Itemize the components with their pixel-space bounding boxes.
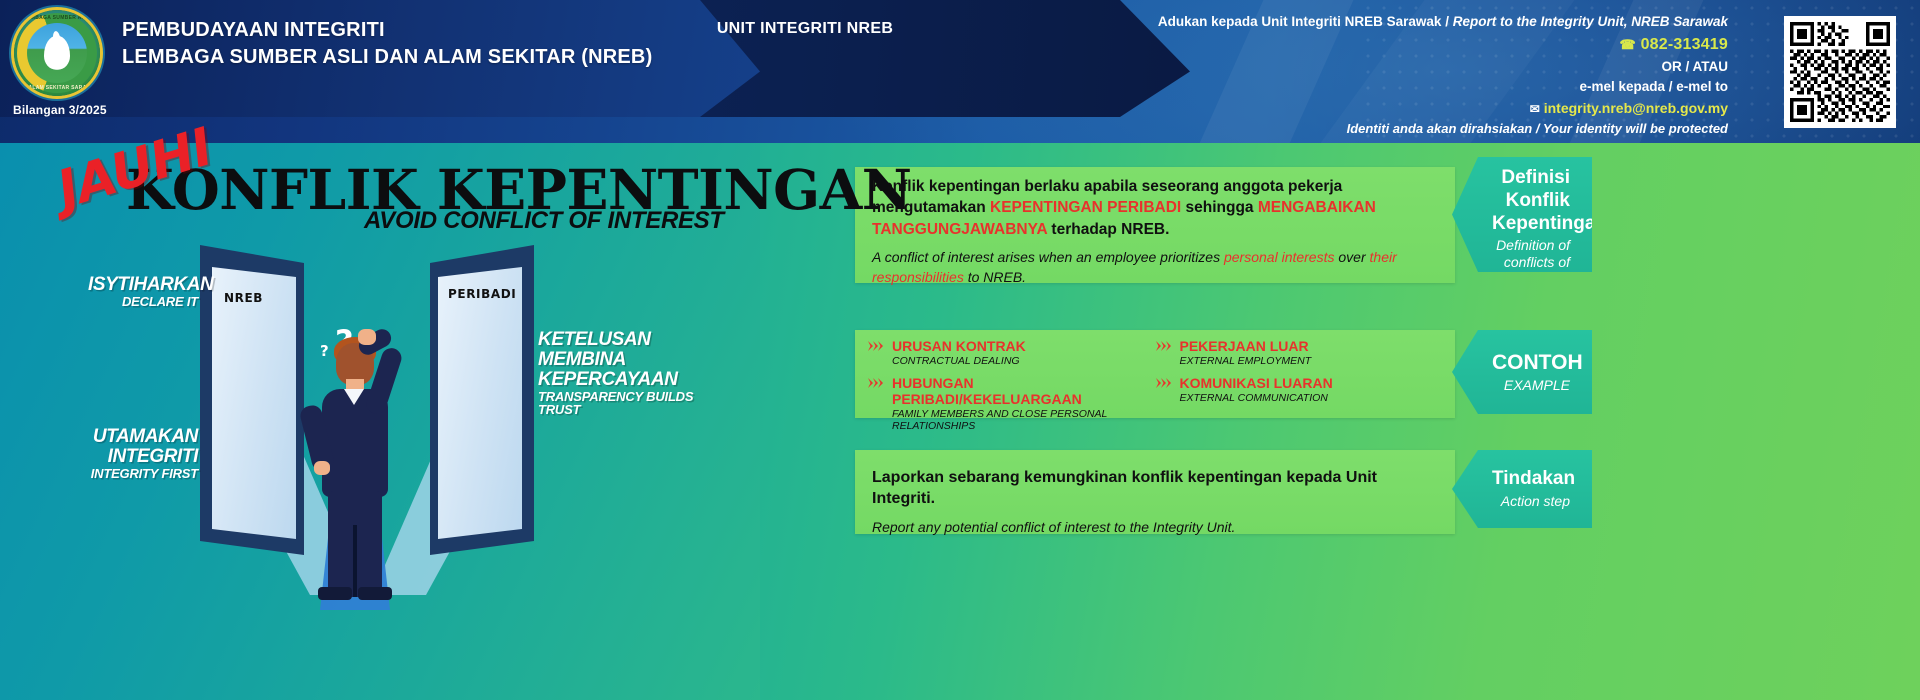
definition-bm-part2: sehingga — [1181, 199, 1258, 216]
man-leg-split — [353, 525, 357, 597]
contact-phone: 082-313419 — [1641, 36, 1728, 53]
list-item: URUSAN KONTRAK CONTRACTUAL DEALING — [868, 338, 1156, 368]
example-bm-1: URUSAN KONTRAK — [892, 338, 1026, 354]
list-item: HUBUNGAN PERIBADI/KEKELUARGAAN FAMILY ME… — [868, 375, 1156, 433]
example-en-4: EXTERNAL COMMUNICATION — [1180, 392, 1333, 405]
poster-root: LEMBAGA SUMBER ASLI DAN ALAM SEKITAR SAR… — [0, 0, 1920, 700]
label-declare-it: ISYTIHARKAN DECLARE IT — [88, 275, 198, 309]
door-peribadi: PERIBADI — [430, 245, 534, 555]
qr-code-icon[interactable] — [1784, 16, 1896, 128]
label-transparency-en: TRANSPARENCY BUILDS TRUST — [538, 390, 738, 417]
contact-privacy-note: Identiti anda akan dirahsiakan / Your id… — [958, 119, 1728, 139]
arrows-icon — [1156, 341, 1174, 351]
man-left-hand — [314, 461, 330, 475]
logo-hand-icon — [44, 36, 70, 70]
label-transparency: KETELUSAN MEMBINA KEPERCAYAAN TRANSPAREN… — [538, 330, 738, 417]
man-figure-icon — [300, 285, 410, 605]
definition-en-part1: A conflict of interest arises when an em… — [872, 249, 1224, 265]
door-peribadi-label: PERIBADI — [448, 287, 516, 301]
list-item: PEKERJAAN LUAR EXTERNAL EMPLOYMENT — [1156, 338, 1444, 368]
nreb-logo: LEMBAGA SUMBER ASLI DAN ALAM SEKITAR SAR… — [14, 10, 100, 96]
header-org-line2: LEMBAGA SUMBER ASLI DAN ALAM SEKITAR (NR… — [122, 44, 652, 71]
action-tab-main: Tindakan — [1492, 468, 1570, 491]
contact-email-label: e-mel kepada / e-mel to — [958, 77, 1728, 98]
example-tab-sub: EXAMPLE — [1492, 377, 1570, 394]
arrows-icon-svg — [868, 341, 886, 351]
label-transparency-bm-1: KETELUSAN MEMBINA — [538, 330, 738, 370]
definition-tab-main-2: Konflik — [1492, 190, 1570, 213]
definition-tab-main-1: Definisi — [1492, 167, 1570, 190]
definition-tab-sub-2: conflicts of — [1492, 254, 1570, 271]
example-list: URUSAN KONTRAK CONTRACTUAL DEALING HUBUN… — [868, 338, 1443, 440]
example-bm-3: PEKERJAAN LUAR — [1180, 338, 1312, 354]
list-item: KOMUNIKASI LUARAN EXTERNAL COMMUNICATION — [1156, 375, 1444, 405]
example-text: HUBUNGAN PERIBADI/KEKELUARGAAN FAMILY ME… — [892, 375, 1156, 433]
definition-tab: Definisi Konflik Kepentingan Definition … — [1452, 157, 1592, 272]
arrows-icon-svg — [1156, 378, 1174, 388]
contact-report-line: Adukan kepada Unit Integriti NREB Sarawa… — [958, 12, 1728, 33]
arrows-icon-svg — [1156, 341, 1174, 351]
definition-bm-red1: KEPENTINGAN PERIBADI — [990, 199, 1181, 216]
label-integrity-first: UTAMAKAN INTEGRITI INTEGRITY FIRST — [28, 427, 198, 481]
definition-en-part3: to NREB. — [964, 269, 1026, 285]
definition-en-red1: personal interests — [1224, 249, 1335, 265]
label-integrity-bm: UTAMAKAN INTEGRITI — [28, 427, 198, 467]
example-column-left: URUSAN KONTRAK CONTRACTUAL DEALING HUBUN… — [868, 338, 1156, 440]
action-tab: Tindakan Action step — [1452, 450, 1592, 528]
contact-email-line[interactable]: ✉ integrity.nreb@nreb.gov.my — [958, 98, 1728, 119]
header-unit-title: UNIT INTEGRITI NREB — [690, 20, 920, 38]
arrows-icon — [868, 341, 886, 351]
contact-report-bm: Adukan kepada Unit Integriti NREB Sarawa… — [1158, 14, 1453, 29]
action-text-block: Laporkan sebarang kemungkinan konflik ke… — [872, 468, 1432, 536]
doors-illustration: NREB PERIBADI ? ? ? ISYTIHARKA — [0, 230, 770, 700]
action-tab-sub: Action step — [1492, 493, 1570, 510]
example-en-1: CONTRACTUAL DEALING — [892, 355, 1026, 368]
contact-email: integrity.nreb@nreb.gov.my — [1544, 100, 1728, 116]
example-column-right: PEKERJAAN LUAR EXTERNAL EMPLOYMENT KOMUN… — [1156, 338, 1444, 440]
header-org-title: PEMBUDAYAAN INTEGRITI LEMBAGA SUMBER ASL… — [122, 17, 652, 71]
issue-number: Bilangan 3/2025 — [13, 103, 107, 117]
example-bm-4: KOMUNIKASI LUARAN — [1180, 375, 1333, 391]
example-bm-2: HUBUNGAN PERIBADI/KEKELUARGAAN — [892, 375, 1156, 407]
label-declare-en: DECLARE IT — [88, 295, 198, 309]
man-right-hand — [358, 329, 376, 345]
example-text: URUSAN KONTRAK CONTRACTUAL DEALING — [892, 338, 1026, 368]
page-subtitle: AVOID CONFLICT OF INTEREST — [364, 207, 724, 235]
definition-text-block: Konflik kepentingan berlaku apabila sese… — [872, 176, 1427, 287]
door-nreb-panel — [212, 267, 296, 539]
action-bm: Laporkan sebarang kemungkinan konflik ke… — [872, 468, 1432, 510]
definition-bm-part3: terhadap NREB. — [1047, 221, 1169, 238]
definition-tab-main-3: Kepentingan — [1492, 213, 1570, 236]
man-right-shoe — [358, 587, 392, 600]
header-org-line1: PEMBUDAYAAN INTEGRITI — [122, 17, 652, 44]
man-left-shoe — [318, 587, 352, 600]
definition-bm: Konflik kepentingan berlaku apabila sese… — [872, 176, 1427, 240]
arrows-icon — [868, 378, 886, 388]
contact-report-en: Report to the Integrity Unit, NREB Saraw… — [1453, 14, 1728, 29]
label-integrity-en: INTEGRITY FIRST — [28, 467, 198, 481]
example-en-3: EXTERNAL EMPLOYMENT — [1180, 355, 1312, 368]
definition-en-part2: over — [1335, 249, 1370, 265]
phone-icon: ☎ — [1620, 37, 1636, 52]
contact-or-label: OR / ATAU — [958, 57, 1728, 78]
example-text: KOMUNIKASI LUARAN EXTERNAL COMMUNICATION — [1180, 375, 1333, 405]
header-bar: LEMBAGA SUMBER ASLI DAN ALAM SEKITAR SAR… — [0, 0, 1920, 143]
example-tab: CONTOH EXAMPLE — [1452, 330, 1592, 414]
example-text: PEKERJAAN LUAR EXTERNAL EMPLOYMENT — [1180, 338, 1312, 368]
logo-text-bottom: DAN ALAM SEKITAR SARAWAK — [14, 85, 100, 91]
logo-text-top: LEMBAGA SUMBER ASLI — [14, 15, 100, 21]
arrows-icon — [1156, 378, 1174, 388]
definition-en: A conflict of interest arises when an em… — [872, 248, 1427, 287]
label-declare-bm: ISYTIHARKAN — [88, 275, 198, 295]
arrows-icon-svg — [868, 378, 886, 388]
contact-block: Adukan kepada Unit Integriti NREB Sarawa… — [958, 12, 1728, 139]
example-tab-main: CONTOH — [1492, 350, 1570, 375]
contact-phone-line[interactable]: ☎ 082-313419 — [958, 33, 1728, 57]
qr-code-svg — [1790, 22, 1890, 122]
envelope-icon: ✉ — [1530, 102, 1540, 116]
door-peribadi-panel — [438, 267, 522, 539]
action-en: Report any potential conflict of interes… — [872, 518, 1432, 536]
door-nreb: NREB — [200, 245, 304, 555]
definition-tab-sub-1: Definition of — [1492, 237, 1570, 254]
door-nreb-label: NREB — [224, 291, 263, 305]
example-en-2: FAMILY MEMBERS AND CLOSE PERSONAL RELATI… — [892, 408, 1156, 433]
label-transparency-bm-2: KEPERCAYAAN — [538, 370, 738, 390]
